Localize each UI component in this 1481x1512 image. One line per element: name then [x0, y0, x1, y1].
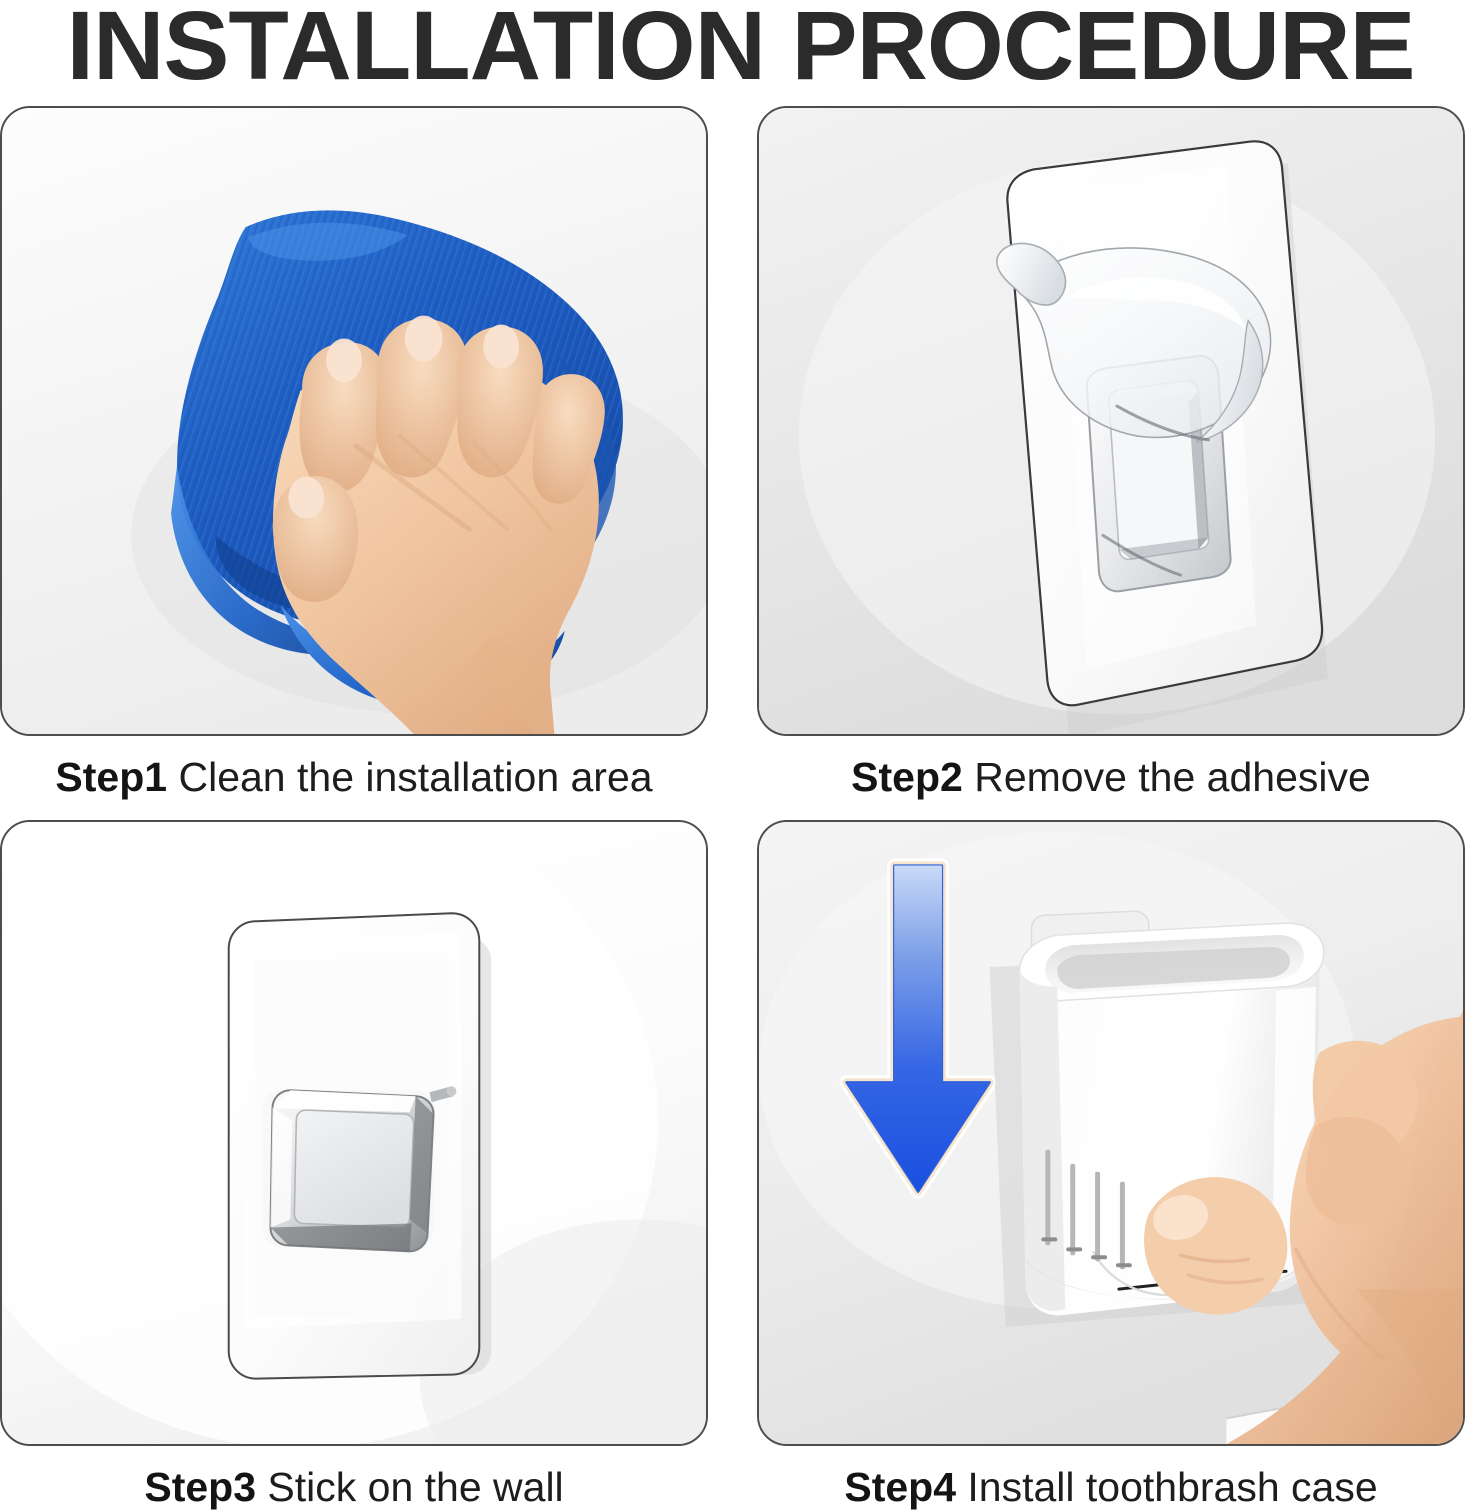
- step-card-1: Step1 Clean the installation area: [0, 106, 712, 802]
- adhesive-peel-illustration: [759, 108, 1463, 734]
- step4-number: Step4: [844, 1464, 956, 1510]
- square-bracket: [263, 1086, 457, 1251]
- install-cup-illustration: [759, 822, 1463, 1444]
- step-card-3: Step3 Stick on the wall: [0, 820, 712, 1512]
- step3-number: Step3: [144, 1464, 256, 1510]
- step1-text: Clean the installation area: [178, 754, 652, 800]
- step2-caption: Step2 Remove the adhesive: [757, 752, 1465, 802]
- step1-caption: Step1 Clean the installation area: [0, 752, 708, 802]
- step4-caption: Step4 Install toothbrash case: [757, 1462, 1465, 1512]
- step3-text: Stick on the wall: [267, 1464, 563, 1510]
- step2-text: Remove the adhesive: [974, 754, 1371, 800]
- page-title: INSTALLATION PROCEDURE: [0, 0, 1481, 96]
- step4-text: Install toothbrash case: [967, 1464, 1377, 1510]
- hand-wiping-cloth-illustration: [2, 108, 706, 734]
- step2-number: Step2: [851, 754, 963, 800]
- step3-photo: [0, 820, 708, 1446]
- step3-caption: Step3 Stick on the wall: [0, 1462, 708, 1512]
- installation-procedure-page: INSTALLATION PROCEDURE: [0, 0, 1481, 1500]
- step1-number: Step1: [55, 754, 167, 800]
- pad-on-wall-illustration: [2, 822, 706, 1444]
- step1-photo: [0, 106, 708, 736]
- step2-photo: [757, 106, 1465, 736]
- step-card-4: Step4 Install toothbrash case: [757, 820, 1469, 1512]
- step4-photo: [757, 820, 1465, 1446]
- step-card-2: Step2 Remove the adhesive: [757, 106, 1469, 802]
